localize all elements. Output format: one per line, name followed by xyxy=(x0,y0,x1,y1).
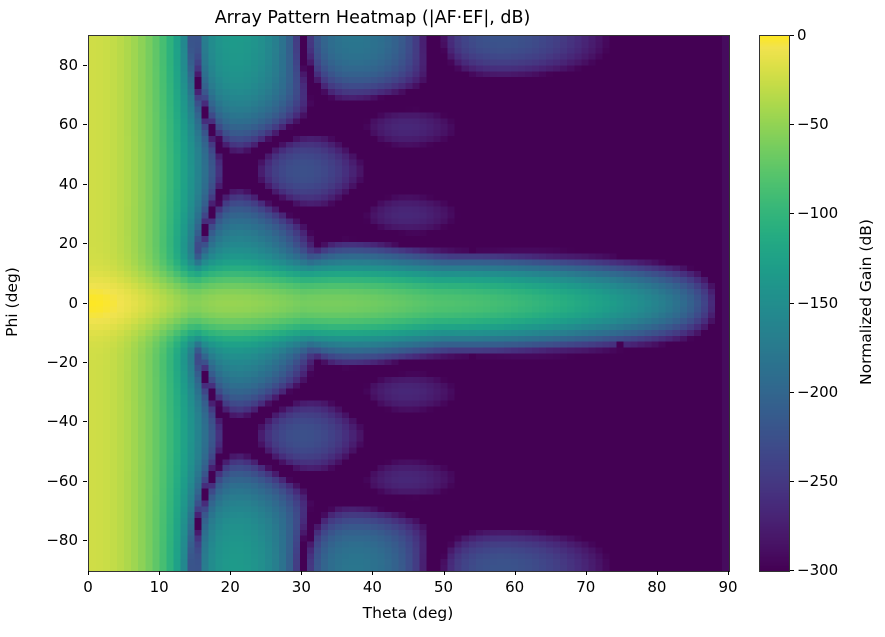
colorbar-tick-label: −250 xyxy=(797,472,838,490)
y-tick-label: −20 xyxy=(46,353,78,371)
x-tick-mark xyxy=(88,571,89,575)
colorbar-tick-mark xyxy=(790,124,794,125)
figure-canvas: Array Pattern Heatmap (|AF·EF|, dB) 0102… xyxy=(0,0,885,637)
y-tick-mark xyxy=(83,421,87,422)
x-tick-label: 90 xyxy=(718,578,737,596)
x-tick-mark xyxy=(515,571,516,575)
colorbar-tick-label: −200 xyxy=(797,383,838,401)
x-tick-mark xyxy=(444,571,445,575)
x-tick-label: 10 xyxy=(150,578,169,596)
x-tick-label: 30 xyxy=(292,578,311,596)
y-axis-label: Phi (deg) xyxy=(3,267,21,337)
x-tick-mark xyxy=(301,571,302,575)
y-tick-mark xyxy=(83,481,87,482)
x-axis-label: Theta (deg) xyxy=(88,604,728,622)
x-tick-label: 40 xyxy=(363,578,382,596)
y-tick-label: −40 xyxy=(46,412,78,430)
heatmap-axes[interactable] xyxy=(88,35,730,572)
x-tick-label: 20 xyxy=(221,578,240,596)
y-tick-label: 0 xyxy=(68,294,78,312)
y-tick-mark xyxy=(83,303,87,304)
y-tick-mark xyxy=(83,540,87,541)
x-tick-label: 70 xyxy=(576,578,595,596)
colorbar[interactable] xyxy=(759,35,790,572)
colorbar-tick-label: −150 xyxy=(797,294,838,312)
y-tick-label: 60 xyxy=(59,115,78,133)
y-tick-mark xyxy=(83,243,87,244)
y-tick-label: −80 xyxy=(46,531,78,549)
colorbar-tick-mark xyxy=(790,213,794,214)
colorbar-gradient xyxy=(760,36,789,571)
y-tick-label: 40 xyxy=(59,175,78,193)
x-tick-mark xyxy=(230,571,231,575)
colorbar-label: Normalized Gain (dB) xyxy=(857,219,875,385)
y-tick-label: 80 xyxy=(59,56,78,74)
x-tick-mark xyxy=(657,571,658,575)
x-tick-mark xyxy=(728,571,729,575)
x-tick-mark xyxy=(159,571,160,575)
colorbar-tick-mark xyxy=(790,303,794,304)
x-tick-label: 60 xyxy=(505,578,524,596)
y-tick-label: −60 xyxy=(46,472,78,490)
colorbar-tick-label: −300 xyxy=(797,561,838,579)
colorbar-tick-label: −50 xyxy=(797,115,829,133)
colorbar-tick-mark xyxy=(790,35,794,36)
x-tick-label: 50 xyxy=(434,578,453,596)
y-tick-mark xyxy=(83,124,87,125)
x-tick-mark xyxy=(586,571,587,575)
x-tick-label: 80 xyxy=(647,578,666,596)
y-tick-label: 20 xyxy=(59,234,78,252)
y-tick-mark xyxy=(83,65,87,66)
colorbar-tick-mark xyxy=(790,392,794,393)
x-tick-label: 0 xyxy=(83,578,93,596)
y-tick-mark xyxy=(83,184,87,185)
colorbar-tick-mark xyxy=(790,481,794,482)
colorbar-tick-label: −100 xyxy=(797,204,838,222)
heatmap-image[interactable] xyxy=(89,36,729,571)
x-tick-mark xyxy=(372,571,373,575)
y-tick-mark xyxy=(83,362,87,363)
chart-title: Array Pattern Heatmap (|AF·EF|, dB) xyxy=(0,8,745,28)
colorbar-tick-label: 0 xyxy=(797,26,807,44)
colorbar-tick-mark xyxy=(790,570,794,571)
